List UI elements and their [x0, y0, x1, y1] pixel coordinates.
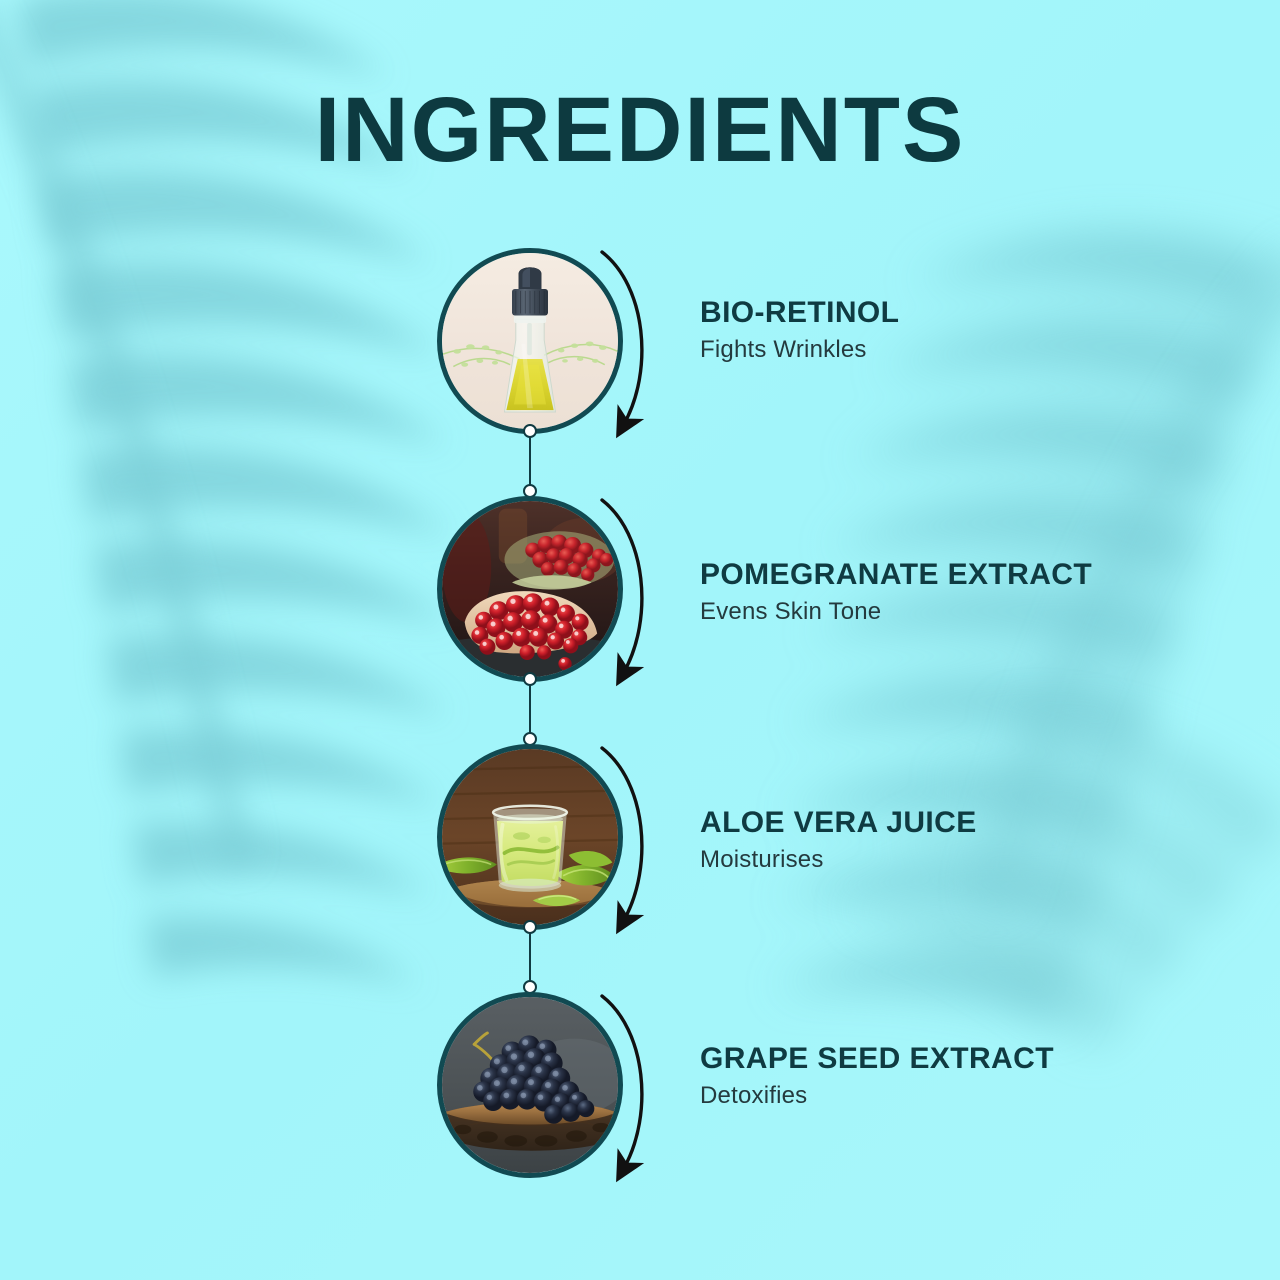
- ingredient-text-block: ALOE VERA JUICE Moisturises: [700, 806, 1220, 875]
- ingredient-image-circle[interactable]: [437, 744, 623, 930]
- timeline-connector: [523, 672, 537, 746]
- ingredient-image-circle[interactable]: [437, 248, 623, 434]
- ingredient-benefit: Evens Skin Tone: [700, 596, 1220, 627]
- ingredient-image-circle[interactable]: [437, 992, 623, 1178]
- ingredient-text-block: BIO-RETINOL Fights Wrinkles: [700, 296, 1220, 365]
- aloe-vera-juice-photo: [442, 749, 618, 925]
- ingredient-image-circle[interactable]: [437, 496, 623, 682]
- connector-dot: [523, 672, 537, 686]
- ingredient-name: GRAPE SEED EXTRACT: [700, 1042, 1220, 1077]
- ingredients-timeline: BIO-RETINOL Fights Wrinkles: [0, 0, 1280, 1280]
- ingredient-benefit: Fights Wrinkles: [700, 334, 1220, 365]
- grapes-photo: [442, 997, 618, 1173]
- ingredient-text-block: POMEGRANATE EXTRACT Evens Skin Tone: [700, 558, 1220, 627]
- ingredient-text-block: GRAPE SEED EXTRACT Detoxifies: [700, 1042, 1220, 1111]
- pomegranate-photo: [442, 501, 618, 677]
- page-title: INGREDIENTS: [0, 84, 1280, 176]
- ingredient-item: GRAPE SEED EXTRACT Detoxifies: [0, 992, 1280, 1182]
- ingredient-benefit: Moisturises: [700, 844, 1220, 875]
- ingredient-name: POMEGRANATE EXTRACT: [700, 558, 1220, 593]
- connector-dot: [523, 424, 537, 438]
- ingredient-name: BIO-RETINOL: [700, 296, 1220, 331]
- timeline-connector: [523, 424, 537, 498]
- serum-dropper-bottle-photo: [442, 253, 618, 429]
- ingredient-item: BIO-RETINOL Fights Wrinkles: [0, 248, 1280, 438]
- timeline-connector: [523, 920, 537, 994]
- ingredient-benefit: Detoxifies: [700, 1080, 1220, 1111]
- connector-dot: [523, 920, 537, 934]
- ingredient-name: ALOE VERA JUICE: [700, 806, 1220, 841]
- ingredient-item: POMEGRANATE EXTRACT Evens Skin Tone: [0, 496, 1280, 686]
- ingredient-item: ALOE VERA JUICE Moisturises: [0, 744, 1280, 934]
